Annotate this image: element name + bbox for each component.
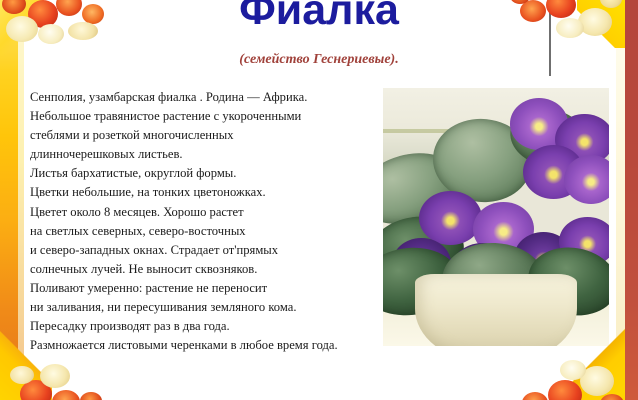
photo-flower <box>419 191 482 245</box>
description-line: солнечных лучей. Не выносит сквозняков. <box>30 260 382 279</box>
page-title: Фиалка <box>0 0 638 35</box>
photo-flower <box>564 155 609 204</box>
description-line: длинночерешковых листьев. <box>30 145 382 164</box>
corner-wedge-bottom-right <box>569 328 625 400</box>
description-line: Сенполия, узамбарская фиалка . Родина — … <box>30 88 382 107</box>
description-line: Размножается листовыми черенками в любое… <box>30 336 382 355</box>
flower-petal <box>80 392 102 400</box>
description-line: и северо-западных окнах. Страдает от'пря… <box>30 241 382 260</box>
description-line: Цветет около 8 месяцев. Хорошо растет <box>30 203 382 222</box>
corner-wedge-top-right <box>577 0 625 48</box>
flower-petal <box>52 390 80 400</box>
description-line: Небольшое травянистое растение с укороче… <box>30 107 382 126</box>
description-line: Пересадку производят раз в два года. <box>30 317 382 336</box>
photo-flower-pot <box>415 274 578 346</box>
description-line: ни заливания, ни пересушивания земляного… <box>30 298 382 317</box>
corner-wedge-top-left <box>0 0 44 58</box>
description-line: Листья бархатистые, округлой формы. <box>30 164 382 183</box>
description-line: стеблями и розеткой многочисленных <box>30 126 382 145</box>
description-text: Сенполия, узамбарская фиалка . Родина — … <box>30 88 382 355</box>
page-subtitle: (семейство Геснериевые). <box>0 52 638 68</box>
right-border-strip <box>625 0 638 400</box>
corner-wedge-bottom-left <box>0 330 52 400</box>
african-violet-photo <box>383 88 609 346</box>
description-line: Цветки небольшие, на тонких цветоножках. <box>30 183 382 202</box>
description-line: на светлых северных, северо-восточных <box>30 222 382 241</box>
flower-petal <box>522 392 548 400</box>
presentation-slide: Фиалка (семейство Геснериевые). Сенполия… <box>0 0 638 400</box>
description-line: Поливают умеренно: растение не переносит <box>30 279 382 298</box>
